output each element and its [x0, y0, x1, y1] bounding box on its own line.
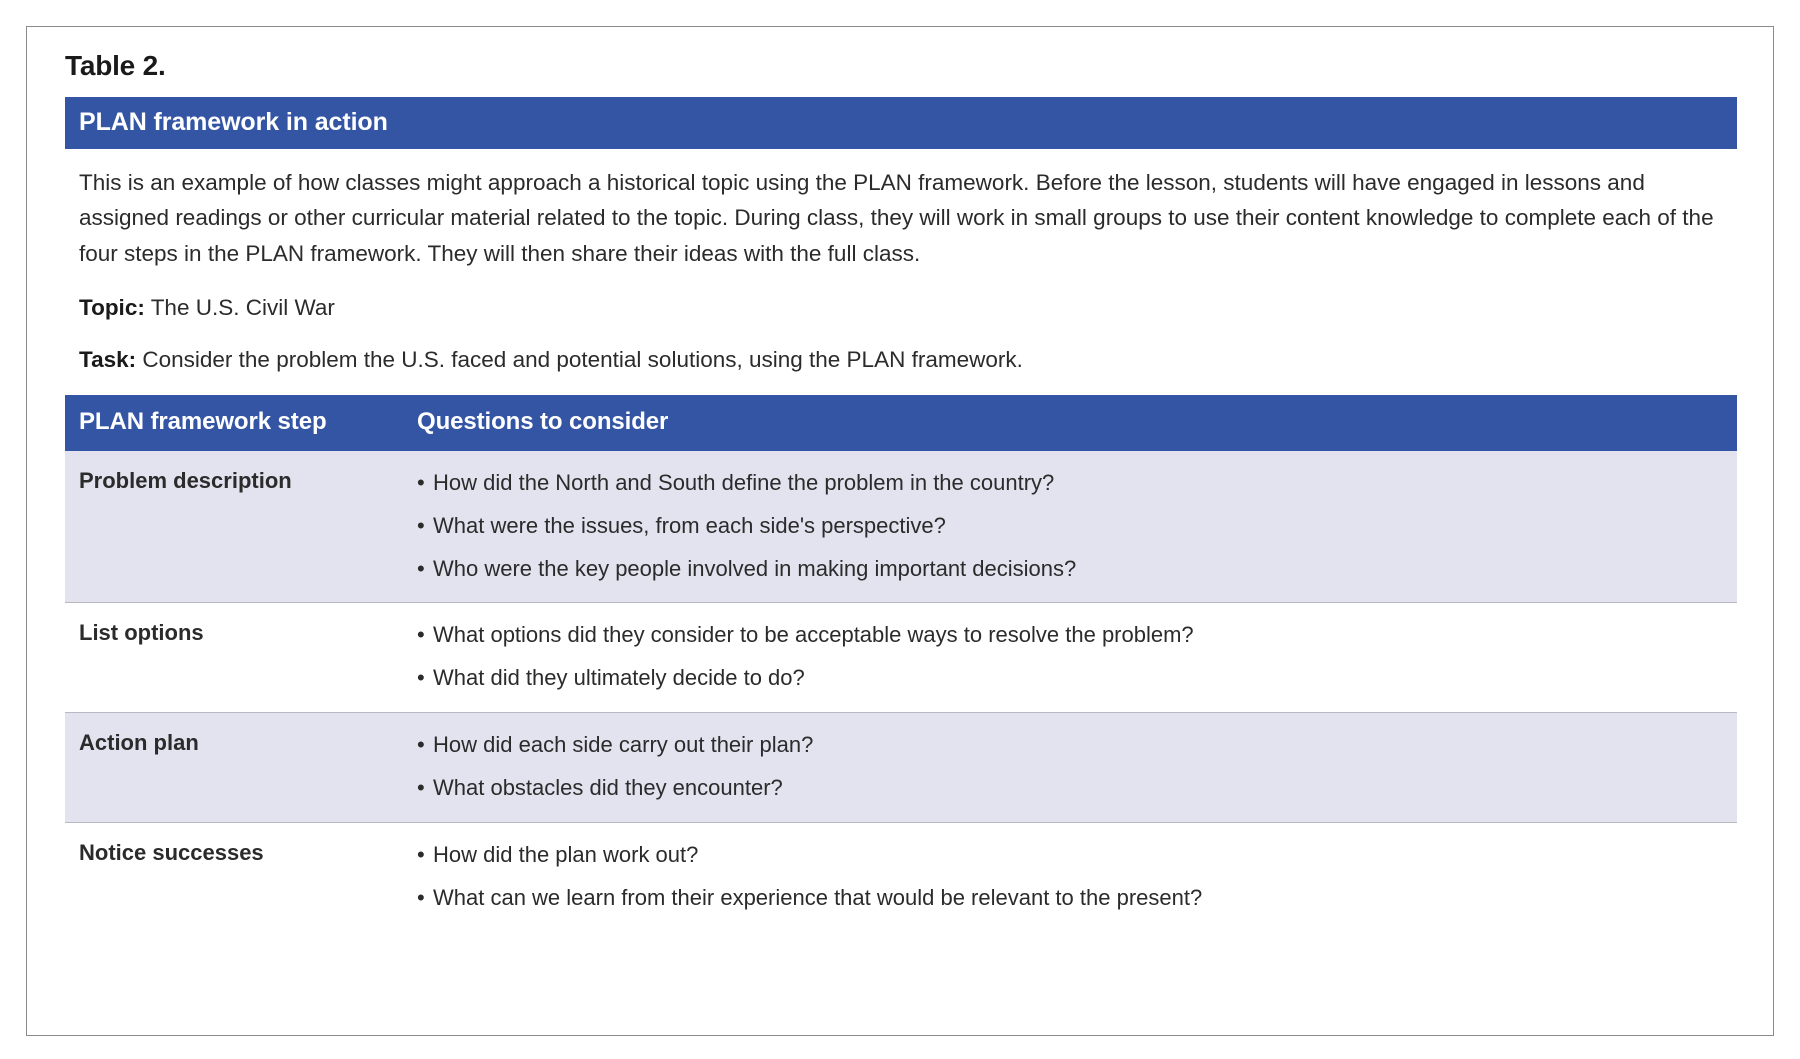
table-title-text: PLAN framework in action	[79, 108, 388, 137]
plan-step-name: Problem description	[65, 451, 411, 603]
question-text: What options did they consider to be acc…	[433, 622, 1194, 647]
topic-label: Topic:	[79, 295, 145, 320]
table-title-bar: PLAN framework in action	[65, 97, 1737, 149]
question-list-item: •How did the plan work out?	[417, 839, 1723, 871]
questions-list: •What options did they consider to be ac…	[417, 619, 1723, 694]
plan-step-name: Notice successes	[65, 822, 411, 931]
table-header-row: PLAN framework step Questions to conside…	[65, 395, 1737, 451]
table-row: Notice successes•How did the plan work o…	[65, 822, 1737, 931]
question-text: What obstacles did they encounter?	[433, 775, 783, 800]
question-list-item: •What can we learn from their experience…	[417, 882, 1723, 914]
task-line: Task: Consider the problem the U.S. face…	[79, 343, 1723, 377]
table-body: Problem description•How did the North an…	[65, 451, 1737, 932]
plan-framework-table: PLAN framework step Questions to conside…	[65, 395, 1737, 932]
table-figure-frame: Table 2. PLAN framework in action This i…	[26, 26, 1774, 1036]
task-value: Consider the problem the U.S. faced and …	[142, 347, 1022, 372]
question-list-item: •How did the North and South define the …	[417, 467, 1723, 499]
question-list-item: •What options did they consider to be ac…	[417, 619, 1723, 651]
question-list-item: •What did they ultimately decide to do?	[417, 662, 1723, 694]
question-list-item: •Who were the key people involved in mak…	[417, 553, 1723, 585]
bullet-icon: •	[417, 839, 425, 871]
table-row: Action plan•How did each side carry out …	[65, 713, 1737, 823]
question-text: How did the plan work out?	[433, 842, 698, 867]
task-label: Task:	[79, 347, 136, 372]
question-list-item: •What were the issues, from each side's …	[417, 510, 1723, 542]
topic-value: The U.S. Civil War	[151, 295, 335, 320]
questions-cell: •How did the plan work out?•What can we …	[411, 822, 1737, 931]
question-text: What were the issues, from each side's p…	[433, 513, 946, 538]
question-text: How did each side carry out their plan?	[433, 732, 813, 757]
column-header-questions-to-consider: Questions to consider	[411, 395, 1737, 451]
intro-block: This is an example of how classes might …	[65, 149, 1737, 377]
topic-line: Topic: The U.S. Civil War	[79, 291, 1723, 325]
question-text: What can we learn from their experience …	[433, 885, 1202, 910]
question-text: Who were the key people involved in maki…	[433, 556, 1076, 581]
questions-list: •How did the plan work out?•What can we …	[417, 839, 1723, 914]
bullet-icon: •	[417, 619, 425, 651]
bullet-icon: •	[417, 882, 425, 914]
table-head: PLAN framework step Questions to conside…	[65, 395, 1737, 451]
question-list-item: •How did each side carry out their plan?	[417, 729, 1723, 761]
bullet-icon: •	[417, 662, 425, 694]
plan-step-name: Action plan	[65, 713, 411, 823]
bullet-icon: •	[417, 772, 425, 804]
intro-paragraph: This is an example of how classes might …	[79, 165, 1723, 272]
plan-step-name: List options	[65, 603, 411, 713]
table-bottom-spacer	[65, 932, 1737, 1022]
questions-cell: •How did the North and South define the …	[411, 451, 1737, 603]
questions-list: •How did each side carry out their plan?…	[417, 729, 1723, 804]
bullet-icon: •	[417, 553, 425, 585]
question-list-item: •What obstacles did they encounter?	[417, 772, 1723, 804]
column-header-plan-framework-step: PLAN framework step	[65, 395, 411, 451]
bullet-icon: •	[417, 510, 425, 542]
table-number-caption: Table 2.	[65, 49, 1737, 83]
table-row: Problem description•How did the North an…	[65, 451, 1737, 603]
question-text: How did the North and South define the p…	[433, 470, 1054, 495]
table-row: List options•What options did they consi…	[65, 603, 1737, 713]
questions-cell: •How did each side carry out their plan?…	[411, 713, 1737, 823]
question-text: What did they ultimately decide to do?	[433, 665, 805, 690]
questions-cell: •What options did they consider to be ac…	[411, 603, 1737, 713]
bullet-icon: •	[417, 729, 425, 761]
questions-list: •How did the North and South define the …	[417, 467, 1723, 585]
table-content: Table 2. PLAN framework in action This i…	[65, 49, 1737, 1022]
bullet-icon: •	[417, 467, 425, 499]
